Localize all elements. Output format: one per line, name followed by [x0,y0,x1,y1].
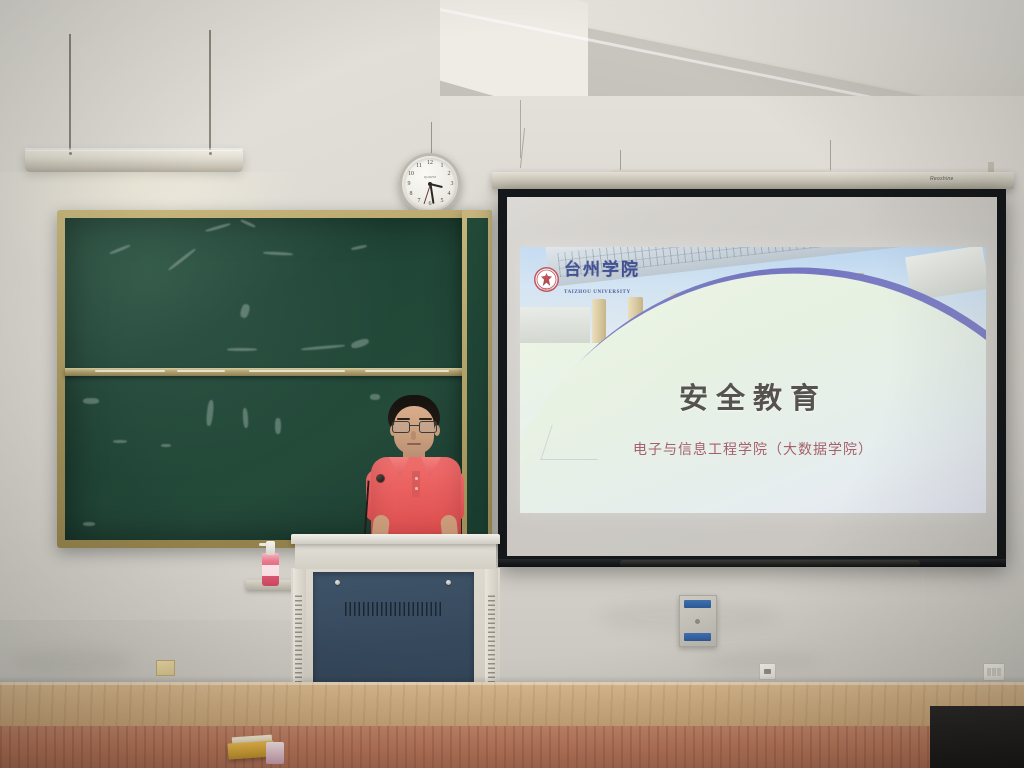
clock-number: 1 [437,163,447,170]
screen-hanging-wire [830,140,831,174]
clock-number: 4 [444,191,454,198]
chalk-mark [275,418,281,434]
panel-screw [335,580,340,585]
chalk-mark [206,400,215,426]
university-emblem-icon: TAIZHOU [534,267,559,292]
panel-label-upper [684,600,711,608]
chalk-mark [113,440,127,443]
blackboard-chalk-rail [65,368,469,376]
panel-label-lower [684,633,711,641]
slide-title: 安全教育 [520,375,986,417]
shirt-placket [412,471,420,497]
glasses-lens [392,421,410,433]
panel-latch [695,619,700,624]
clock-number: 11 [414,163,424,170]
university-name-cn: 台州学院 [564,260,640,279]
clock-number: 3 [447,181,457,188]
shirt-button [415,477,418,480]
clock-number: 12 [425,160,435,167]
podium-apron [295,543,496,569]
stage-platform-highlight [0,682,1024,685]
clock-number: 5 [437,198,447,205]
floor-dark-area [930,706,1024,768]
university-logo: TAIZHOU 台州学院 TAIZHOU UNIVERSITY [534,261,640,298]
chalk-mark [227,348,257,351]
power-outlet-left[interactable] [156,660,175,676]
chalk-mark [168,248,197,271]
clock-center-pin [428,182,432,186]
chalk-residue [177,370,225,372]
wall-smudge [12,648,132,676]
emblem-text: TAIZHOU [534,289,559,291]
eyebrow [419,418,432,420]
clock-number: 2 [444,171,454,178]
photo-bridge-pier [592,299,606,343]
lecturer [355,395,475,555]
eyebrow [397,418,410,420]
clock-brand-text: QUARTZ [418,175,442,179]
mouth [407,443,421,445]
lamp-support-rod [69,34,71,152]
glasses-icon [392,421,436,431]
logo-text-block: 台州学院 TAIZHOU UNIVERSITY [564,261,640,298]
podium-vent-upper [345,602,443,616]
chalk-mark [83,398,99,404]
fluorescent-lamp [25,150,243,172]
stage-platform-face [0,726,1024,768]
chalk-mark [240,219,256,228]
photo-building [520,307,590,343]
lamp-screw [69,152,72,155]
chalk-mark [205,222,231,232]
clock-number: 7 [414,198,424,205]
wall-clock: 12 1 2 3 4 5 6 7 8 9 10 11 QUARTZ [399,153,461,215]
stage-platform-top [0,682,1024,728]
chalk-mark [109,244,131,255]
glasses-lens [419,421,437,433]
glasses-bridge [409,425,419,426]
clock-face: 12 1 2 3 4 5 6 7 8 9 10 11 QUARTZ [404,158,456,210]
chalk-residue [95,370,165,372]
podium-desktop [291,534,500,544]
nose [411,431,416,440]
university-name-en: TAIZHOU UNIVERSITY [564,290,631,295]
chalk-mark [351,244,367,250]
slide-subtitle: 电子与信息工程学院（大数据学院） [520,439,986,459]
shirt-button [415,487,418,490]
ceiling-mounted-rail [620,560,920,567]
chalk-mark [83,522,95,526]
chalk-mark [301,344,345,351]
chalk-mark [161,444,171,447]
chalk-residue [249,370,345,372]
clock-number: 9 [404,181,414,188]
chalk-mark [242,408,248,428]
chalk-mark [350,337,369,349]
clock-number: 10 [406,171,416,178]
projector-screen-surface: TAIZHOU 台州学院 TAIZHOU UNIVERSITY 安全教育 电子与… [507,197,997,556]
slide: TAIZHOU 台州学院 TAIZHOU UNIVERSITY 安全教育 电子与… [520,247,986,513]
clock-number: 8 [406,191,416,198]
electrical-panel-box [679,595,717,647]
soap-bottle-label [262,565,279,576]
projector-screen: TAIZHOU 台州学院 TAIZHOU UNIVERSITY 安全教育 电子与… [498,189,1006,565]
chalk-mark [263,251,293,256]
soap-pump-nozzle [259,543,268,546]
chalk-residue [365,370,449,372]
screen-brand-label: Reoshine [930,176,954,182]
lamp-screw [209,152,212,155]
clock-hanging-wire [431,122,432,154]
lamp-support-rod [209,30,211,152]
panel-screw [446,580,451,585]
classroom-photo: 12 1 2 3 4 5 6 7 8 9 10 11 QUARTZ [0,0,1024,768]
chalk-mark [239,303,251,319]
debris-item [266,742,284,764]
